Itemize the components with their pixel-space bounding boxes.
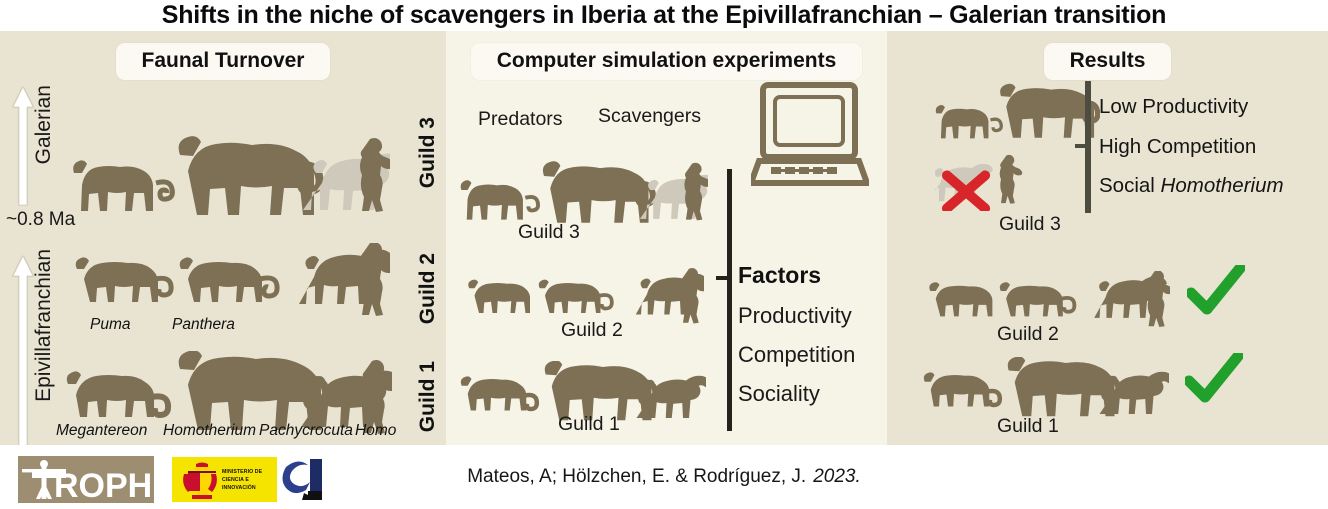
species-label-megantereon: Megantereon [56, 422, 147, 440]
panel-results: Results [887, 31, 1328, 445]
result-low-productivity: Low Productivity [1099, 95, 1248, 119]
panel-left-title: Faunal Turnover [116, 43, 331, 80]
panel-right-title: Results [1044, 43, 1172, 80]
boundary-age-label: ~0.8 Ma [6, 209, 75, 231]
homo-silhouette [1147, 271, 1170, 327]
guild2-silhouettes-right [925, 271, 1170, 331]
factors-divider [727, 169, 732, 431]
result-high-competition: High Competition [1099, 135, 1256, 159]
species-label-panthera: Panthera [172, 316, 235, 334]
result-social-prefix: Social [1099, 174, 1161, 197]
panels-container: Faunal Turnover Galerian Epivillafranchi… [0, 31, 1328, 445]
puma-silhouette [73, 160, 172, 211]
guild-caption-2-center: Guild 2 [561, 319, 623, 342]
factor-competition: Competition [738, 342, 855, 368]
factors-title: Factors [738, 262, 821, 289]
footer: Mateos, A; Hölzchen, E. & Rodríguez, J. … [0, 445, 1328, 509]
panel-center-title-wrap: Computer simulation experiments [446, 43, 887, 80]
megantereon-silhouette [67, 371, 168, 417]
factor-sociality: Sociality [738, 381, 820, 407]
panel-computer-simulation: Computer simulation experiments Predator… [446, 31, 887, 445]
guild3-silhouettes-center [458, 151, 708, 229]
svg-text:ROPHIc: ROPHIc [54, 467, 154, 503]
result-social-homotherium: Social Homotherium [1099, 174, 1284, 198]
homotherium-silhouette [545, 361, 656, 420]
citation-authors: Mateos, A; Hölzchen, E. & Rodríguez, J. [467, 466, 806, 488]
panthera-silhouette [180, 257, 277, 302]
trophic-logo-art: ROPHIc [18, 456, 154, 503]
epoch-axis: Galerian Epivillafranchian [4, 81, 60, 441]
species-label-puma: Puma [90, 316, 131, 334]
homo-silhouette [1000, 155, 1023, 204]
guild-caption-1-center: Guild 1 [558, 413, 620, 436]
homotherium-silhouette [179, 351, 327, 430]
epoch-label-galerian: Galerian [32, 85, 56, 164]
panthera-silhouette [539, 280, 612, 313]
homotherium-silhouette [543, 161, 653, 222]
laptop-icon [751, 81, 869, 189]
species-label-homo: Homo [355, 422, 396, 440]
guild-side-label-3: Guild 3 [416, 117, 440, 188]
ministry-logo: MINISTERIO DE CIENCIA E INNOVACIÓN [172, 457, 277, 502]
guild3-silhouettes-left [70, 123, 390, 223]
panel-right-title-wrap: Results [887, 43, 1328, 80]
guild-caption-3-right: Guild 3 [999, 213, 1061, 236]
factor-productivity: Productivity [738, 303, 852, 329]
page-title: Shifts in the niche of scavengers in Ibe… [0, 0, 1328, 30]
result-homotherium-italic: Homotherium [1161, 174, 1284, 197]
green-check-icon [1185, 353, 1243, 409]
guild-caption-1-right: Guild 1 [997, 415, 1059, 438]
panel-faunal-turnover: Faunal Turnover Galerian Epivillafranchi… [0, 31, 446, 445]
group-label-scavengers: Scavengers [598, 105, 701, 128]
trophic-logo: ROPHIc [18, 456, 154, 503]
csic-logo-art [282, 457, 326, 503]
arrow-up-icon [12, 87, 34, 205]
ministry-logo-text: MINISTERIO DE CIENCIA E INNOVACIÓN [222, 469, 274, 492]
group-label-predators: Predators [478, 108, 563, 131]
puma-silhouette [468, 280, 530, 313]
species-label-pachycrocuta: Pachycrocuta [259, 422, 353, 440]
panel-center-title: Computer simulation experiments [471, 43, 863, 80]
homotherium-silhouette [1008, 357, 1119, 416]
guild-side-label-1: Guild 1 [416, 361, 440, 432]
puma-silhouette [929, 282, 992, 316]
guild-caption-3-center: Guild 3 [518, 221, 580, 244]
puma-silhouette [461, 180, 538, 219]
species-label-homotherium: Homotherium [163, 422, 256, 440]
megantereon-silhouette [924, 372, 1000, 406]
homotherium-silhouette [1000, 84, 1098, 138]
homotherium-silhouette [179, 136, 320, 215]
factors-divider-tick [716, 276, 730, 280]
megantereon-silhouette [461, 376, 537, 410]
puma-silhouette [76, 257, 171, 302]
graphical-abstract: Shifts in the niche of scavengers in Ibe… [0, 0, 1328, 509]
panel-left-title-wrap: Faunal Turnover [0, 43, 446, 80]
csic-logo [282, 457, 326, 503]
epoch-label-epivillafranchian: Epivillafranchian [32, 249, 56, 402]
green-check-icon [1187, 265, 1245, 321]
puma-silhouette [936, 105, 1001, 138]
guild-side-label-2: Guild 2 [416, 253, 440, 324]
guild2-silhouettes-left [70, 243, 390, 321]
results-divider-tick [1075, 144, 1089, 148]
citation-year: 2023. [813, 466, 861, 488]
panthera-silhouette [1000, 282, 1075, 316]
guild-caption-2-right: Guild 2 [997, 323, 1059, 346]
